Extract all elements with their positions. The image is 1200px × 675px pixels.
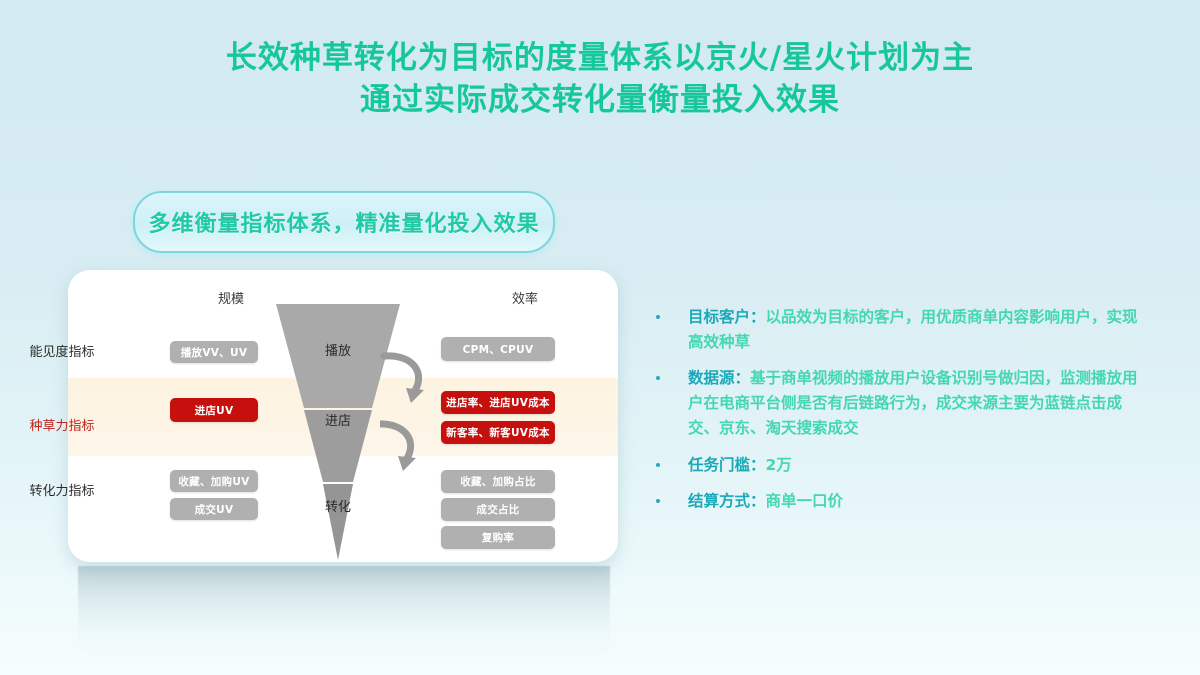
tag-eff-store-rate-cost: 进店率、进店UV成本 bbox=[441, 391, 555, 414]
row-label-visibility: 能见度指标 bbox=[10, 341, 114, 360]
title-line-2: 通过实际成交转化量衡量投入效果 bbox=[0, 80, 1200, 122]
row-label-conversion: 转化力指标 bbox=[10, 480, 114, 499]
title-line-1: 长效种草转化为目标的度量体系以京火/星火计划为主 bbox=[0, 38, 1200, 80]
bullet-dot-icon bbox=[656, 376, 660, 380]
bullet-dot-icon bbox=[656, 499, 660, 503]
bullet-item-target-customer: 目标客户：以品效为目标的客户，用优质商单内容影响用户，实现高效种草 bbox=[648, 305, 1148, 355]
card-reflection bbox=[78, 566, 610, 660]
tag-scale-play-vv-uv: 播放VV、UV bbox=[170, 341, 258, 363]
slide-canvas: 长效种草转化为目标的度量体系以京火/星火计划为主 通过实际成交转化量衡量投入效果… bbox=[0, 0, 1200, 675]
bullet-body: 基于商单视频的播放用户设备识别号做归因，监测播放用户在电商平台侧是否有后链路行为… bbox=[688, 369, 1138, 437]
bullet-label: 任务门槛： bbox=[688, 456, 766, 474]
column-header-efficiency: 效率 bbox=[480, 288, 570, 307]
bullet-item-settlement: 结算方式：商单一口价 bbox=[648, 489, 1148, 514]
tag-scale-store-uv: 进店UV bbox=[170, 398, 258, 422]
funnel-arrows bbox=[380, 350, 460, 480]
tag-eff-fav-cart-share: 收藏、加购占比 bbox=[441, 470, 555, 493]
bullet-body: 商单一口价 bbox=[766, 492, 844, 510]
bullet-item-data-source: 数据源：基于商单视频的播放用户设备识别号做归因，监测播放用户在电商平台侧是否有后… bbox=[648, 366, 1148, 441]
bullet-label: 数据源： bbox=[688, 369, 750, 387]
tag-scale-deal-uv: 成交UV bbox=[170, 498, 258, 520]
bullet-label: 结算方式： bbox=[688, 492, 766, 510]
tag-eff-repurchase-rate: 复购率 bbox=[441, 526, 555, 549]
page-title: 长效种草转化为目标的度量体系以京火/星火计划为主 通过实际成交转化量衡量投入效果 bbox=[0, 38, 1200, 121]
bullet-item-task-threshold: 任务门槛：2万 bbox=[648, 453, 1148, 478]
bullet-label: 目标客户： bbox=[688, 308, 766, 326]
tag-eff-deal-share: 成交占比 bbox=[441, 498, 555, 521]
bullet-dot-icon bbox=[656, 315, 660, 319]
funnel-stage-convert: 转化 bbox=[276, 496, 400, 515]
subtitle-pill: 多维衡量指标体系，精准量化投入效果 bbox=[133, 191, 555, 253]
bullet-body: 2万 bbox=[766, 456, 792, 474]
bullet-list: 目标客户：以品效为目标的客户，用优质商单内容影响用户，实现高效种草 数据源：基于… bbox=[648, 305, 1148, 525]
subtitle-pill-label: 多维衡量指标体系，精准量化投入效果 bbox=[148, 206, 539, 238]
tag-eff-cpm-cpuv: CPM、CPUV bbox=[441, 337, 555, 361]
row-label-seeding: 种草力指标 bbox=[10, 415, 114, 434]
column-header-scale: 规模 bbox=[191, 288, 271, 307]
tag-scale-fav-cart-uv: 收藏、加购UV bbox=[170, 470, 258, 492]
bullet-dot-icon bbox=[656, 463, 660, 467]
tag-eff-newuser-rate-cost: 新客率、新客UV成本 bbox=[441, 421, 555, 444]
